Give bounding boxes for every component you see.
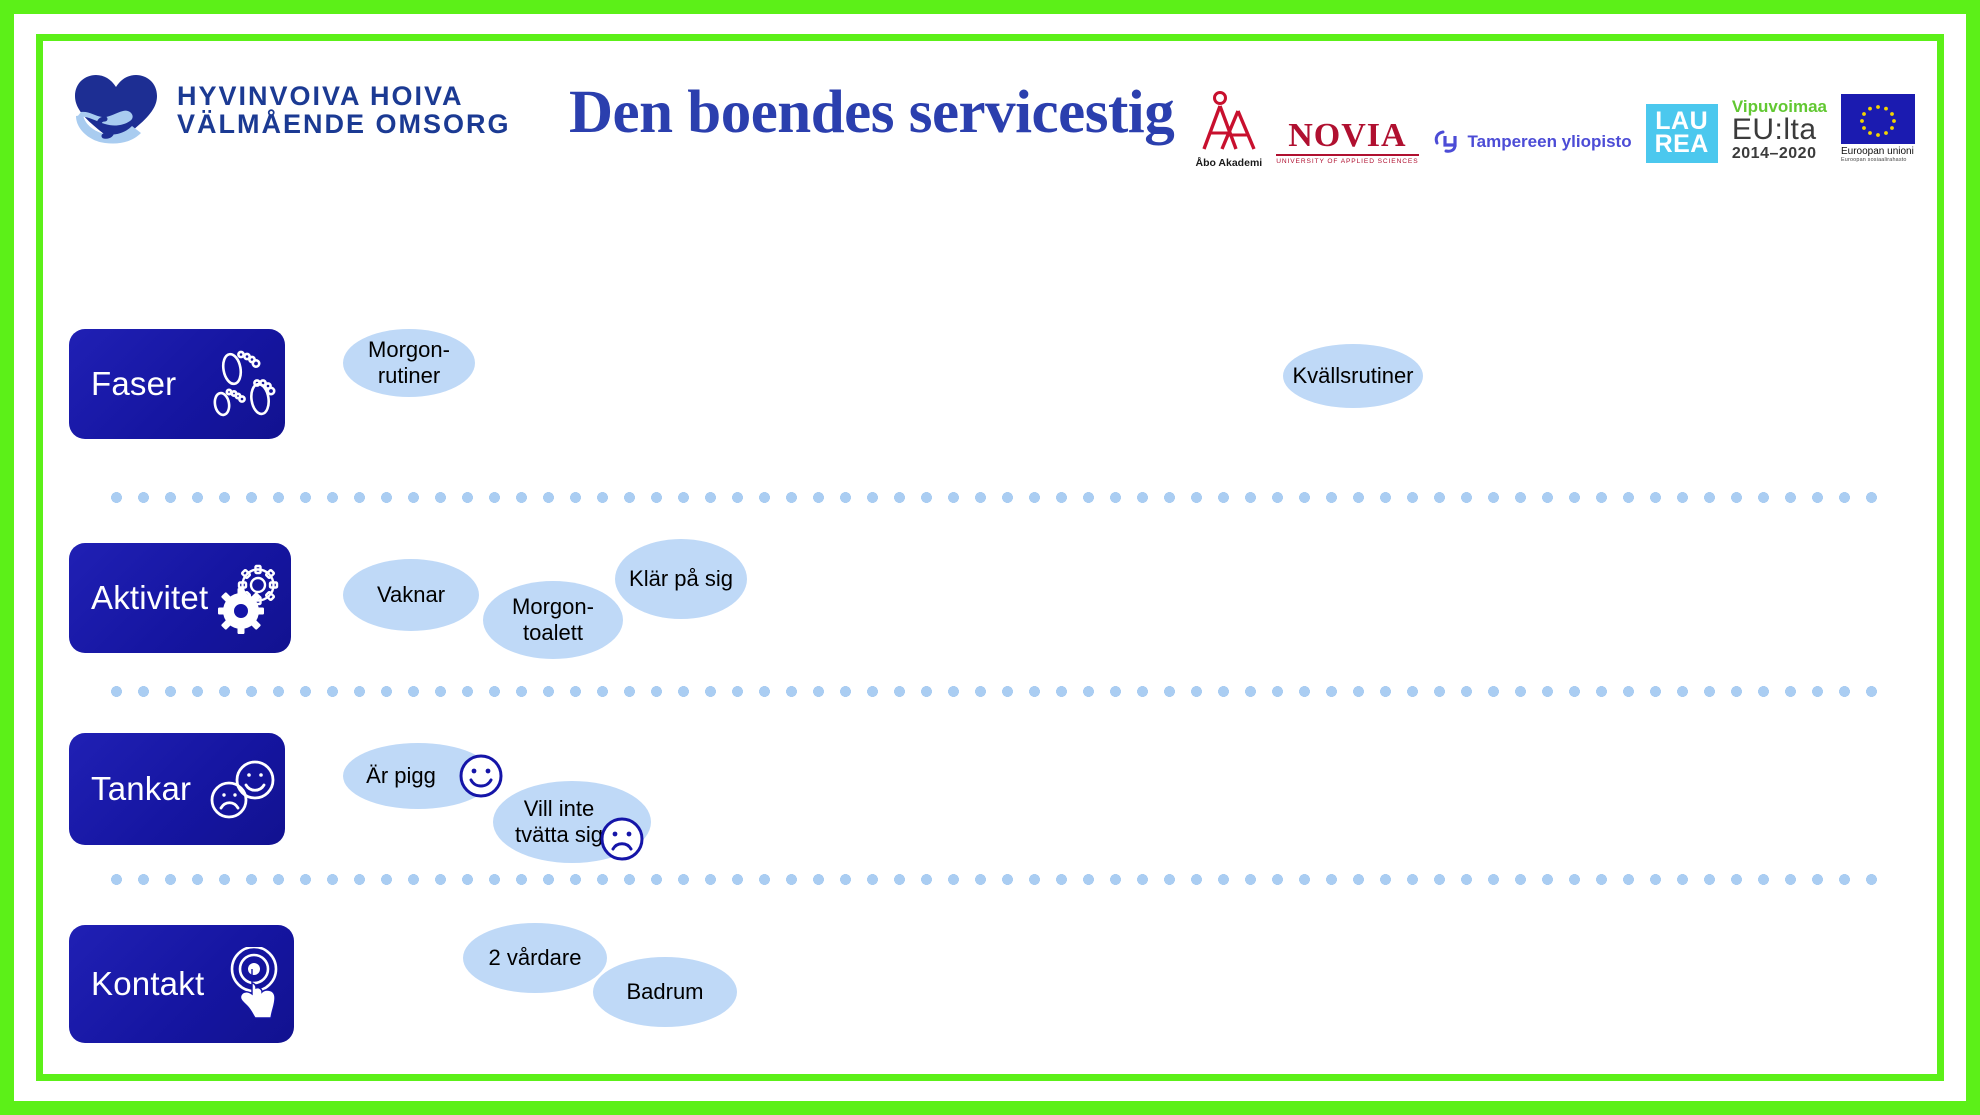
row-label-aktivitet[interactable]: Aktivitet [69, 543, 291, 653]
european-union-logo: Euroopan unioni Euroopan sosiaalirahasto [1841, 94, 1915, 163]
smiley-face-icon [458, 753, 504, 799]
brand-lockup: HYVINVOIVA HOIVA VÄLMÅENDE OMSORG [69, 71, 511, 149]
page-title: Den boendes servicestig [569, 78, 1174, 148]
row-label-tankar[interactable]: Tankar [69, 733, 285, 845]
inner-frame-border: HYVINVOIVA HOIVA VÄLMÅENDE OMSORG Den bo… [36, 34, 1944, 1081]
bubble-morgonrutiner[interactable]: Morgon- rutiner [343, 329, 475, 397]
tampere-wordmark: Tampereen yliopisto [1468, 132, 1632, 152]
row-kontakt: Kontakt 2 vårdare Badrum [43, 913, 1937, 1063]
row-label-text: Kontakt [91, 965, 204, 1003]
footprints-icon [205, 347, 279, 421]
row-label-text: Faser [91, 365, 176, 403]
bubble-morgontoalett[interactable]: Morgon- toalett [483, 581, 623, 659]
partner-logo-strip: Åbo Akademi NOVIA UNIVERSITY OF APPLIED … [1195, 65, 1915, 169]
row-label-text: Aktivitet [91, 579, 208, 617]
tap-touch-icon [214, 947, 288, 1021]
poster-canvas: HYVINVOIVA HOIVA VÄLMÅENDE OMSORG Den bo… [43, 41, 1937, 1074]
row-label-text: Tankar [91, 770, 191, 808]
row-faser: Faser [43, 319, 1937, 449]
row-label-faser[interactable]: Faser [69, 329, 285, 439]
row-label-kontakt[interactable]: Kontakt [69, 925, 294, 1043]
heart-in-hand-icon [69, 71, 165, 149]
abo-akademi-caption: Åbo Akademi [1195, 157, 1262, 169]
novia-logo: NOVIA UNIVERSITY OF APPLIED SCIENCES [1276, 119, 1418, 169]
row-aktivitet: Aktivitet [43, 531, 1937, 671]
novia-subtitle: UNIVERSITY OF APPLIED SCIENCES [1276, 158, 1418, 165]
vipuvoimaa-line3: 2014–2020 [1732, 145, 1817, 163]
poster-header: HYVINVOIVA HOIVA VÄLMÅENDE OMSORG Den bo… [69, 63, 1927, 173]
brand-wordmark: HYVINVOIVA HOIVA VÄLMÅENDE OMSORG [177, 82, 511, 138]
tampere-mark-icon [1433, 129, 1463, 155]
novia-wordmark: NOVIA [1288, 119, 1406, 153]
laurea-line2: REA [1655, 133, 1709, 156]
sad-face-icon [599, 816, 645, 862]
poster: HYVINVOIVA HOIVA VÄLMÅENDE OMSORG Den bo… [0, 0, 1980, 1115]
bubble-kvallsrutiner[interactable]: Kvällsrutiner [1283, 344, 1423, 408]
eu-flag-icon [1841, 94, 1915, 144]
happy-sad-faces-icon [205, 752, 279, 826]
row-separator-2 [103, 686, 1881, 697]
brand-line-sv: VÄLMÅENDE OMSORG [177, 110, 511, 138]
bubble-vaknar[interactable]: Vaknar [343, 559, 479, 631]
vipuvoimaa-eulta-logo: Vipuvoimaa EU:lta 2014–2020 [1732, 98, 1827, 163]
eu-caption-primary: Euroopan unioni [1841, 146, 1914, 157]
row-separator-3 [103, 874, 1881, 885]
eu-caption-secondary: Euroopan sosiaalirahasto [1841, 157, 1907, 163]
novia-rule [1276, 154, 1418, 156]
tampereen-yliopisto-logo: Tampereen yliopisto [1433, 129, 1632, 169]
brand-line-fi: HYVINVOIVA HOIVA [177, 82, 511, 110]
bubble-badrum[interactable]: Badrum [593, 957, 737, 1027]
bubble-2-vardare[interactable]: 2 vårdare [463, 923, 607, 993]
row-tankar: Tankar [43, 721, 1937, 871]
vipuvoimaa-line2: EU:lta [1732, 115, 1817, 145]
abo-akademi-logo: Åbo Akademi [1195, 89, 1262, 169]
row-separator-1 [103, 492, 1881, 503]
bubble-klar-pa-sig[interactable]: Klär på sig [615, 539, 747, 619]
gears-icon [211, 561, 285, 635]
laurea-logo: LAU REA [1646, 104, 1718, 163]
